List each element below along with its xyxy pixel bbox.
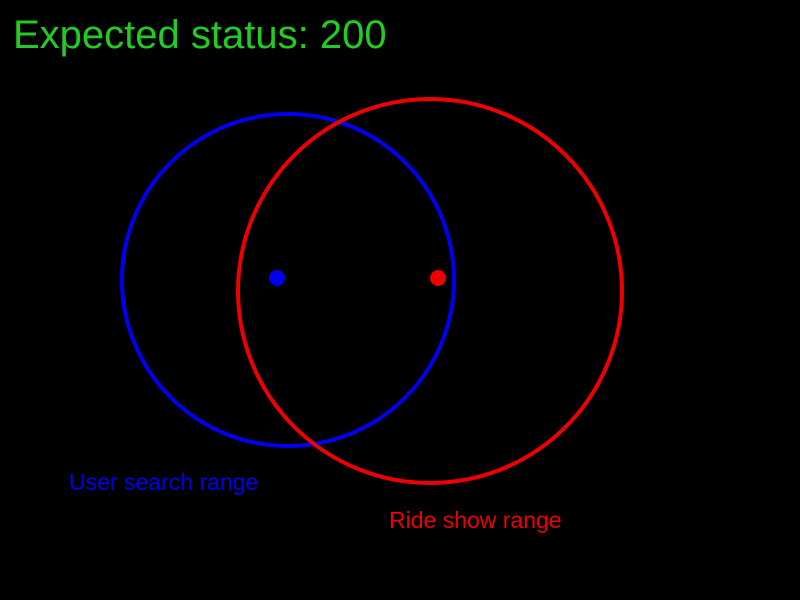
ride-show-range-circle [238, 99, 622, 483]
ride-show-range-label: Ride show range [389, 507, 562, 534]
red-dot-icon [430, 270, 446, 286]
blue-dot-icon [269, 270, 285, 286]
user-search-range-label: User search range [69, 469, 258, 496]
slide-canvas: Expected status: 200 User search range R… [0, 0, 800, 600]
